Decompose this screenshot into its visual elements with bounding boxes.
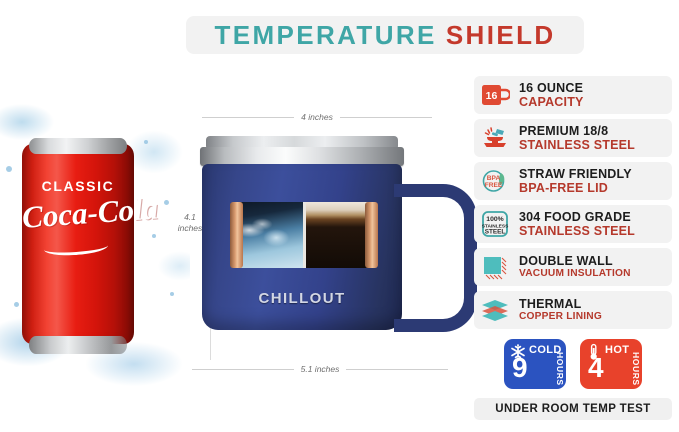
feature-text: DOUBLE WALL VACUUM INSULATION xyxy=(519,254,631,279)
feature-text: 304 FOOD GRADE STAINLESS STEEL xyxy=(519,210,635,238)
hot-hours-unit: HOURS xyxy=(631,352,641,386)
test-condition-note: UNDER ROOM TEMP TEST xyxy=(474,398,672,420)
retention-badges: COLD 9 HOURS HOT 4 HOURS xyxy=(474,338,672,390)
feature-text: STRAW FRIENDLY BPA-FREE LID xyxy=(519,167,632,195)
can-brand-logo: Coca-Cola xyxy=(21,194,135,233)
feature-line-2: COPPER LINING xyxy=(519,311,602,322)
mug-product-image: 4 inches 4.1 inches CHILLOUT 5.1 inches xyxy=(186,106,472,396)
double-wall-icon xyxy=(478,250,512,284)
mug-cutaway-window xyxy=(230,202,378,268)
can-classic-label: CLASSIC xyxy=(22,178,134,194)
feature-row-double-wall: DOUBLE WALL VACUUM INSULATION xyxy=(474,248,672,286)
dimension-line xyxy=(202,117,294,118)
dimension-width-top: 4 inches xyxy=(202,112,432,122)
feature-row-thermal: THERMAL COPPER LINING xyxy=(474,291,672,329)
dimension-line xyxy=(340,117,432,118)
dimension-label-bottom: 5.1 inches xyxy=(294,364,347,374)
feature-line-1: STRAW FRIENDLY xyxy=(519,167,632,181)
feature-row-food-grade: 100% STAINLESS STEEL 304 FOOD GRADE STAI… xyxy=(474,205,672,243)
feature-line-2: BPA-FREE LID xyxy=(519,181,632,195)
cold-retention-badge: COLD 9 HOURS xyxy=(504,339,566,389)
mug-handle xyxy=(394,184,477,332)
dimension-line xyxy=(346,369,448,370)
hot-hours-value: 4 xyxy=(588,354,604,382)
feature-row-capacity: 16 16 OUNCE CAPACITY xyxy=(474,76,672,114)
water-drop xyxy=(6,166,12,172)
title-part-temperature: TEMPERATURE xyxy=(214,20,436,51)
dimension-label-top: 4 inches xyxy=(294,112,340,122)
feature-row-premium-steel: PREMIUM 18/8 STAINLESS STEEL xyxy=(474,119,672,157)
feature-line-1: 304 FOOD GRADE xyxy=(519,210,635,224)
feature-list: 16 16 OUNCE CAPACITY PREMIUM 1 xyxy=(474,76,672,334)
cold-hours-unit: HOURS xyxy=(555,352,565,386)
feature-line-1: THERMAL xyxy=(519,297,602,311)
stainless-steel-100-icon: 100% STAINLESS STEEL xyxy=(478,207,512,241)
mug-brand-label: CHILLOUT xyxy=(202,290,402,307)
feature-line-2: STAINLESS STEEL xyxy=(519,224,635,238)
bpa-icon-line1: BPA xyxy=(487,175,501,182)
can-bottom-rim xyxy=(29,336,127,354)
bpa-free-icon: BPA FREE xyxy=(478,164,512,198)
feature-line-2: VACUUM INSULATION xyxy=(519,268,631,279)
thermal-layers-icon xyxy=(478,293,512,327)
dimension-line xyxy=(192,369,294,370)
copper-lining-strip-left xyxy=(230,202,243,268)
ss-icon-line1: 100% xyxy=(486,216,503,223)
coca-cola-can-image: CLASSIC Coca-Cola xyxy=(22,136,134,352)
dimension-width-bottom: 5.1 inches xyxy=(192,364,448,374)
water-drop xyxy=(170,292,174,296)
feature-text: 16 OUNCE CAPACITY xyxy=(519,81,584,109)
cold-hours-value: 9 xyxy=(512,354,528,382)
feature-line-1: PREMIUM 18/8 xyxy=(519,124,635,138)
feature-line-1: 16 OUNCE xyxy=(519,81,584,95)
page-title: TEMPERATURE SHIELD xyxy=(186,18,584,52)
copper-lining-strip-right xyxy=(365,202,378,268)
ss-icon-line3: STEEL xyxy=(485,229,506,236)
anvil-forge-icon xyxy=(478,121,512,155)
bpa-icon-line2: FREE xyxy=(485,182,503,189)
product-infographic: TEMPERATURE SHIELD CLASSIC Coca-Cola 4 i… xyxy=(0,0,679,432)
can-top-rim xyxy=(29,138,127,154)
water-drop xyxy=(144,140,148,144)
mug-16oz-icon: 16 xyxy=(478,78,512,112)
hot-retention-badge: HOT 4 HOURS xyxy=(580,339,642,389)
feature-row-bpa-free: BPA FREE STRAW FRIENDLY BPA-FREE LID xyxy=(474,162,672,200)
feature-line-1: DOUBLE WALL xyxy=(519,254,631,268)
water-drop xyxy=(164,200,169,205)
title-part-shield: SHIELD xyxy=(446,20,556,51)
water-drop xyxy=(152,234,156,238)
feature-line-2: STAINLESS STEEL xyxy=(519,138,635,152)
feature-text: PREMIUM 18/8 STAINLESS STEEL xyxy=(519,124,635,152)
mug-icon-number: 16 xyxy=(486,90,498,102)
feature-line-2: CAPACITY xyxy=(519,95,584,109)
water-drop xyxy=(14,302,19,307)
hot-label: HOT xyxy=(605,344,629,356)
feature-text: THERMAL COPPER LINING xyxy=(519,297,602,322)
